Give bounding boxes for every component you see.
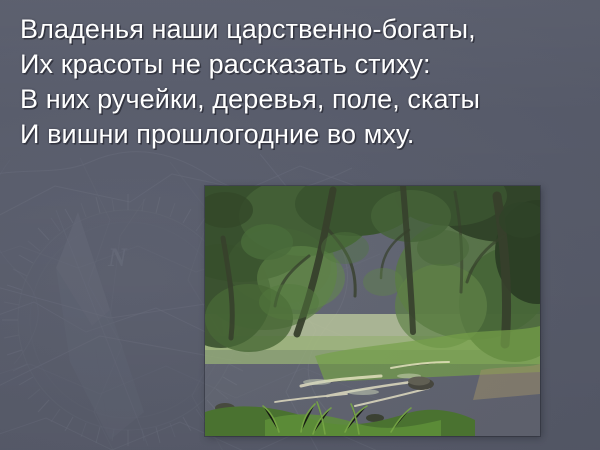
verse-line-3: В них ручейки, деревья, поле, скаты — [20, 82, 580, 117]
verse-line-1: Владенья наши царственно-богаты, — [20, 12, 580, 47]
presentation-slide: N S W E Владенья наши царственно-богаты,… — [0, 0, 600, 450]
verse-line-2: Их красоты не рассказать стиху: — [20, 47, 580, 82]
photo-haze — [205, 186, 540, 436]
verse-line-4: И вишни прошлогодние во мху. — [20, 117, 580, 152]
verse-text-block: Владенья наши царственно-богаты, Их крас… — [20, 12, 580, 152]
forest-stream-photo — [205, 186, 540, 436]
